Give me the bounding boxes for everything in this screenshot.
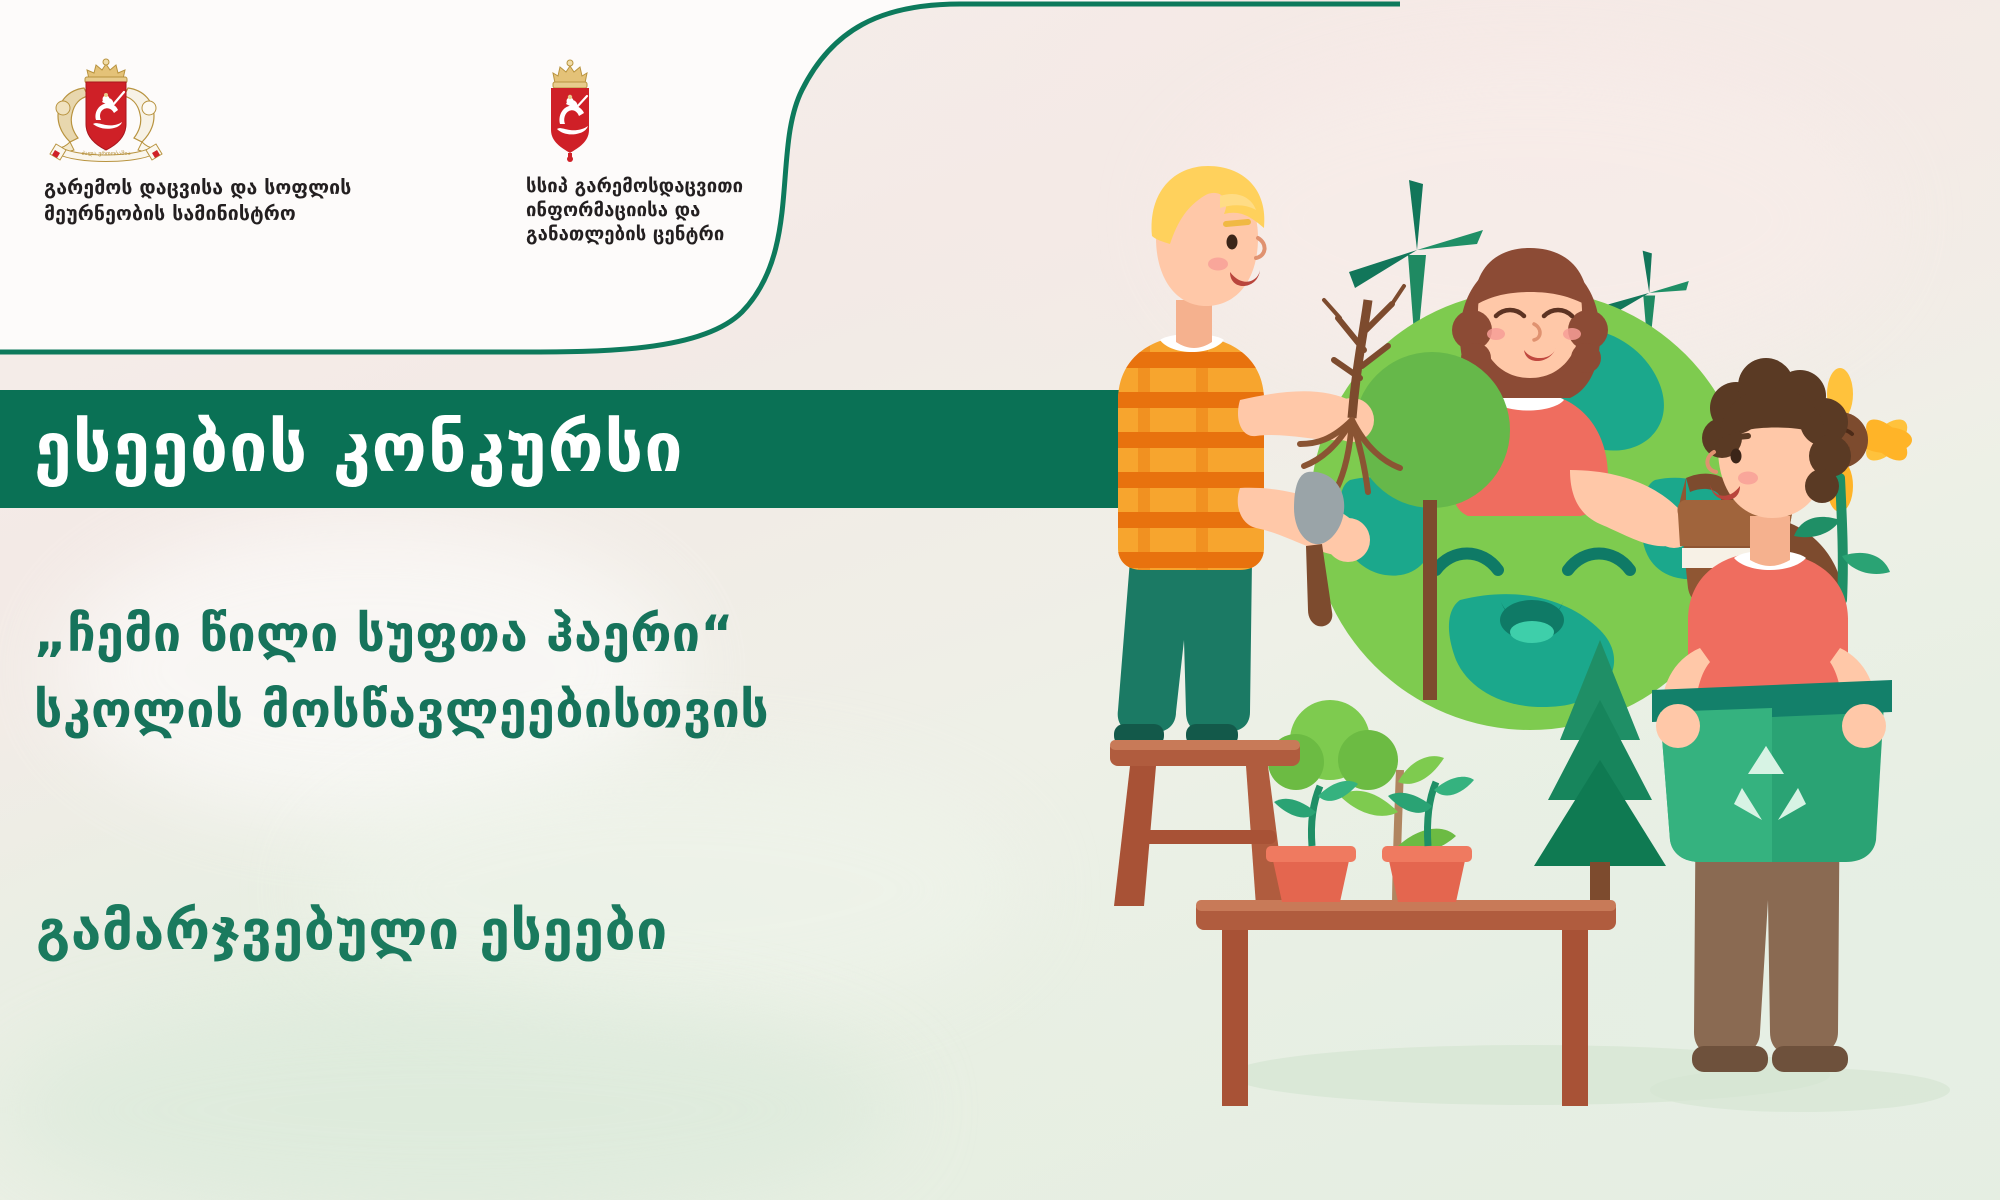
hand xyxy=(1842,704,1886,748)
caption-line: განათლების ცენტრი xyxy=(526,223,866,247)
hand xyxy=(1656,704,1700,748)
section-headline: გამარჯვებული ესეები xyxy=(36,900,1236,961)
logo-ministry-caption: გარემოს დაცვისა და სოფლის მეურნეობის სამ… xyxy=(44,175,404,226)
caption-line: მეურნეობის სამინისტრო xyxy=(44,201,404,227)
logo-row: ძალა ერთობაშია გარემოს დაცვისა და სოფლის… xyxy=(0,58,880,247)
logo-center-caption: სსიპ გარემოსდაცვითი ინფორმაციისა და განა… xyxy=(526,175,866,247)
background-cloud xyxy=(0,1000,900,1200)
georgia-greater-coat-of-arms-icon: ძალა ერთობაშია xyxy=(44,58,404,163)
logo-center: სსიპ გარემოსდაცვითი ინფორმაციისა და განა… xyxy=(526,58,866,247)
subtitle: „ჩემი წილი სუფთა ჰაერი“ სკოლის მოსწავლეე… xyxy=(34,596,1214,748)
background-cloud xyxy=(320,760,1020,1020)
caption-line: გარემოს დაცვისა და სოფლის xyxy=(44,175,404,201)
ground-shadow xyxy=(1650,1068,1950,1112)
svg-text:ძალა ერთობაშია: ძალა ერთობაშია xyxy=(81,150,130,157)
subtitle-line: სკოლის მოსწავლეებისთვის xyxy=(34,672,1214,748)
step-stool-icon xyxy=(1110,740,1300,906)
georgia-lesser-coat-of-arms-icon xyxy=(526,58,866,163)
children-planting-earth-illustration xyxy=(1100,0,2000,1200)
caption-line: ინფორმაციისა და xyxy=(526,199,866,223)
title-banner: ესეების კონკურსი xyxy=(0,390,1120,508)
logo-ministry: ძალა ერთობაშია გარემოს დაცვისა და სოფლის… xyxy=(44,58,404,226)
page-title: ესეების კონკურსი xyxy=(0,415,684,483)
subtitle-line: „ჩემი წილი სუფთა ჰაერი“ xyxy=(34,596,1214,672)
caption-line: სსიპ გარემოსდაცვითი xyxy=(526,175,866,199)
